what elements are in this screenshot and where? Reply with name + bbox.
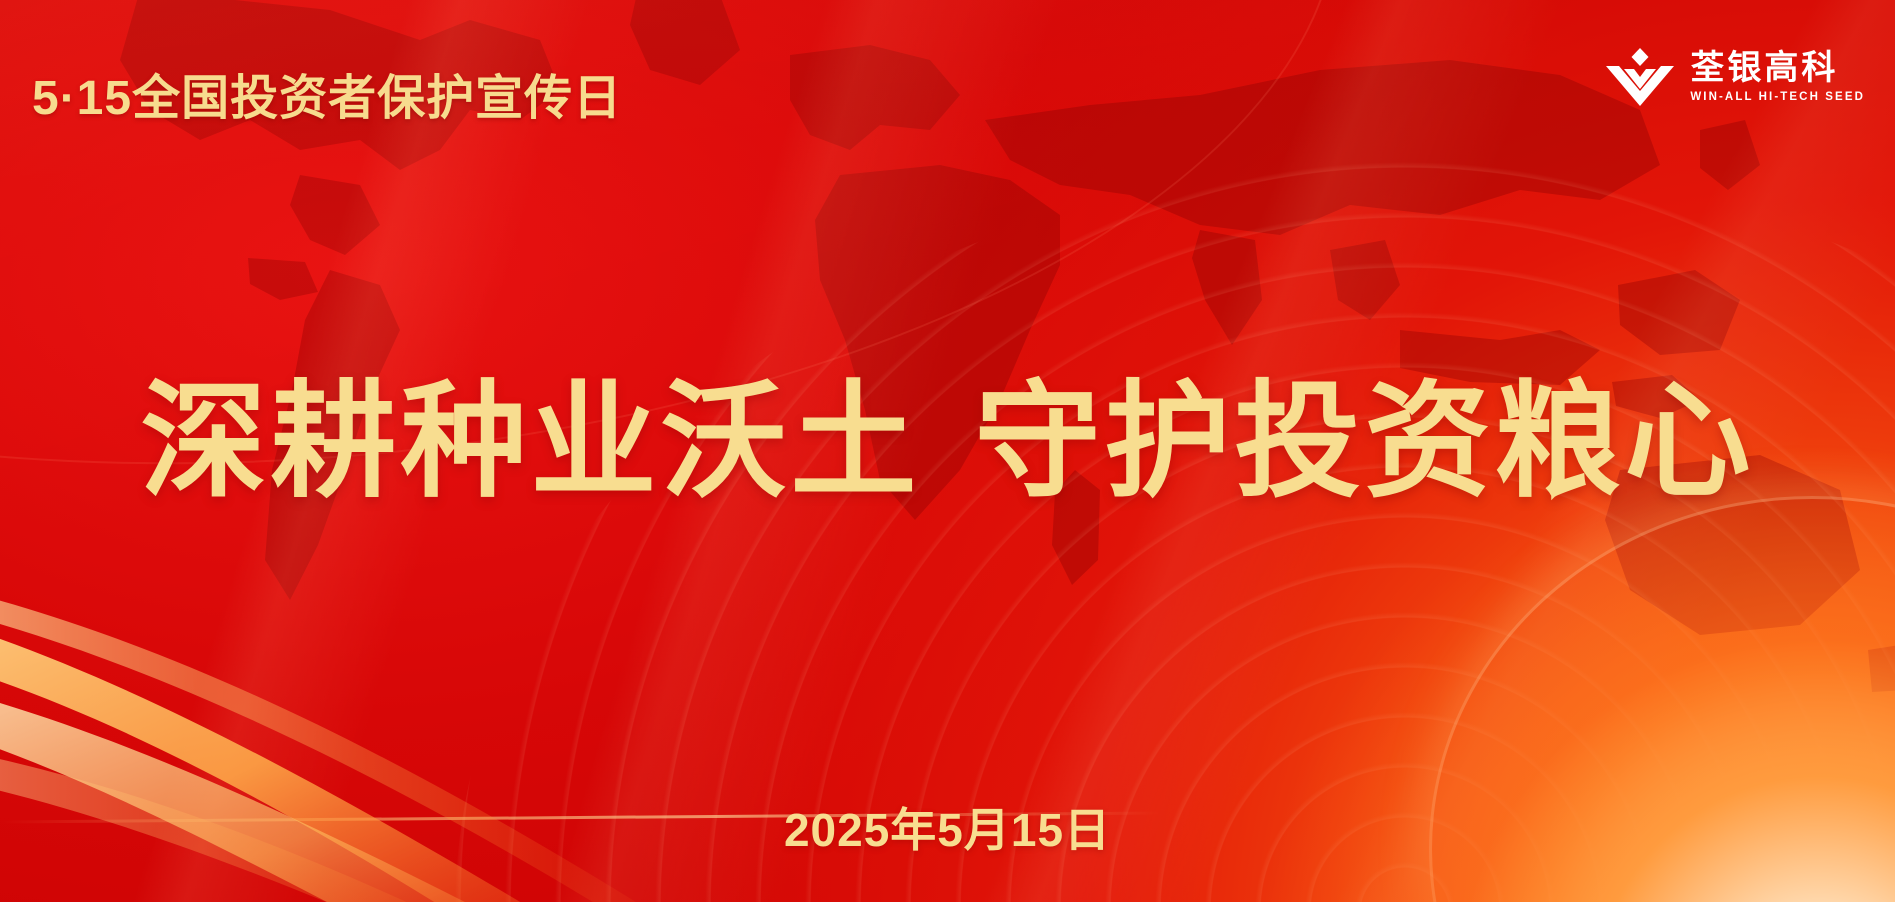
main-slogan-part-1: 深耕种业沃土 bbox=[141, 371, 921, 512]
main-slogan: 深耕种业沃土守护投资粮心 bbox=[0, 370, 1895, 515]
logo-chinese-name: 荃银高科 bbox=[1690, 51, 1838, 87]
chevron-seed-icon bbox=[1606, 48, 1674, 106]
logo-text-block: 荃银高科 WIN-ALL HI-TECH SEED bbox=[1690, 51, 1865, 103]
event-date: 2025年5月15日 bbox=[0, 794, 1895, 860]
logo-english-name: WIN-ALL HI-TECH SEED bbox=[1690, 91, 1865, 103]
campaign-header-title: 5·15全国投资者保护宣传日 bbox=[32, 58, 622, 128]
promotional-banner: 5·15全国投资者保护宣传日 荃银高科 WIN-ALL HI-TECH SEED… bbox=[0, 0, 1895, 902]
main-slogan-part-2: 守护投资粮心 bbox=[975, 371, 1755, 512]
company-logo[interactable]: 荃银高科 WIN-ALL HI-TECH SEED bbox=[1606, 48, 1865, 106]
